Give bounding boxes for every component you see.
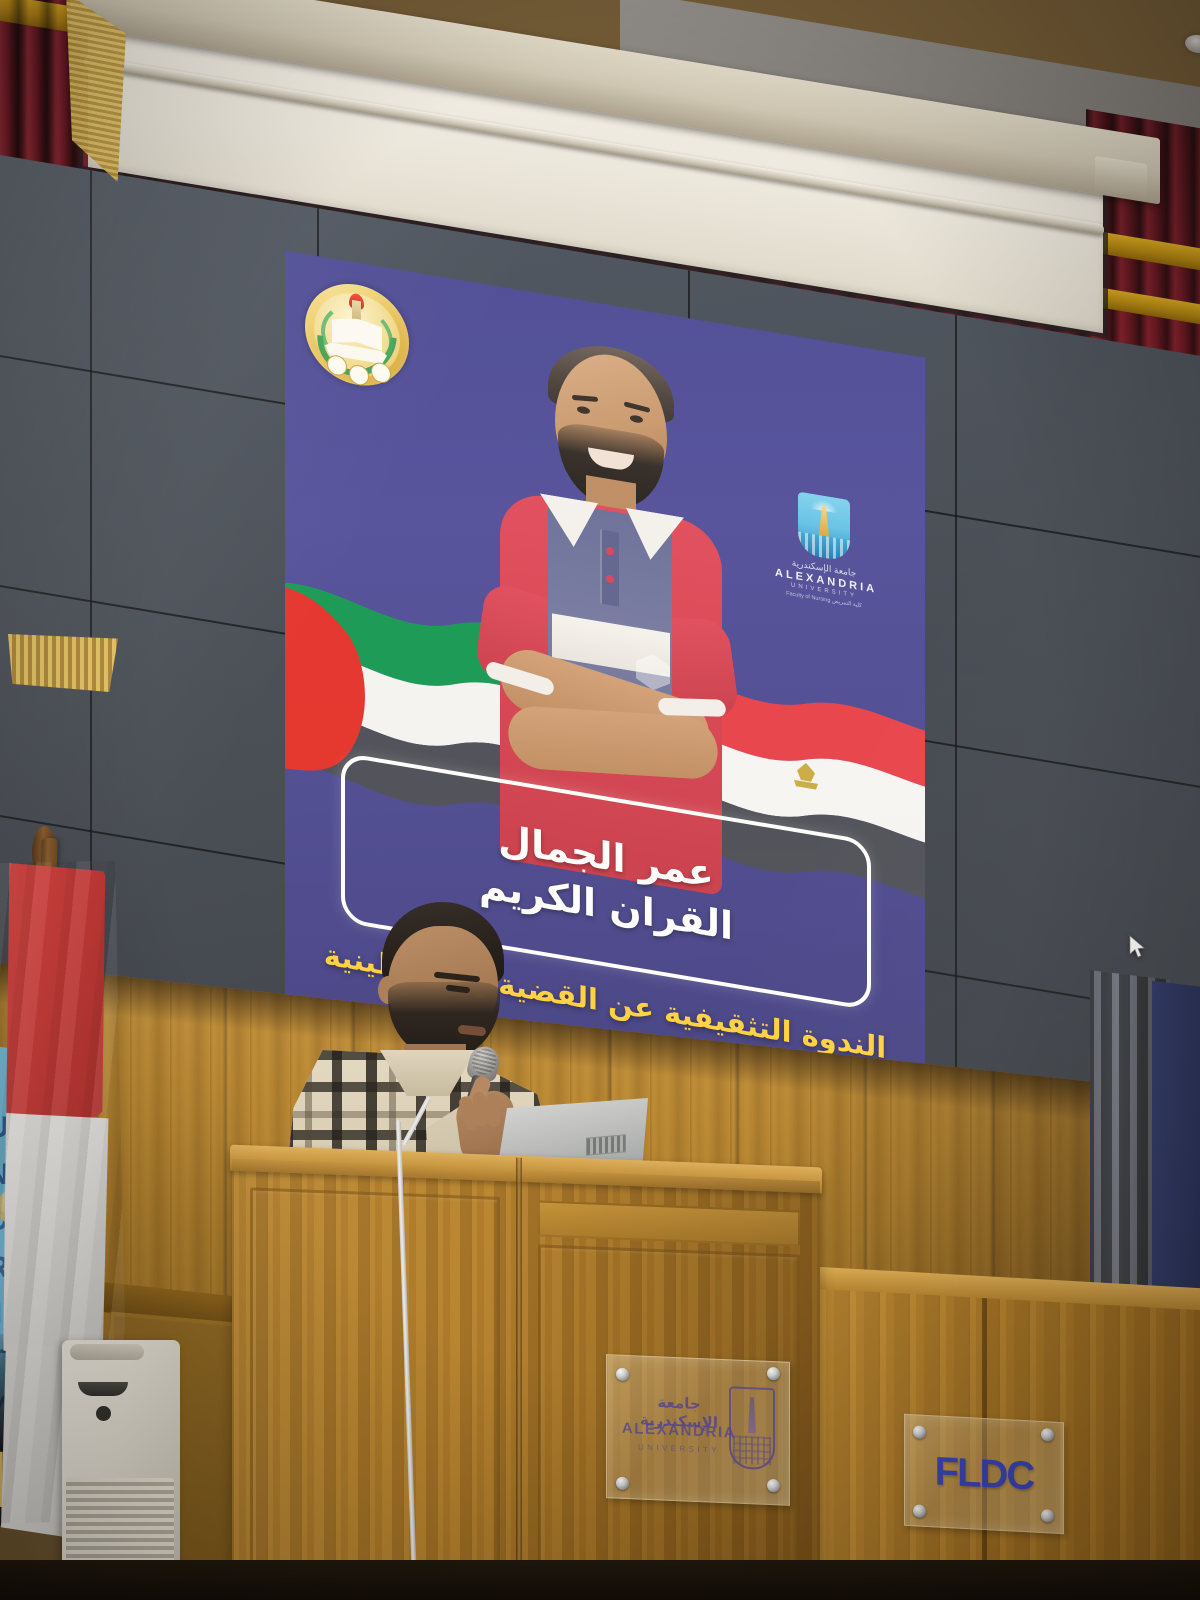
ac-power-button[interactable] — [96, 1406, 111, 1421]
photo-scene: جامعة الإسكندرية ALEXANDRIA UNIVERSITY F… — [0, 0, 1200, 1600]
floor — [0, 1560, 1200, 1600]
alexandria-university-logo: جامعة الإسكندرية ALEXANDRIA UNIVERSITY F… — [775, 488, 873, 636]
laptop-hinge — [586, 1134, 626, 1155]
faculty-crest-icon — [305, 276, 409, 393]
alexandria-university-plaque: جامعة الإسكندرية ALEXANDRIA UNIVERSITY — [606, 1354, 790, 1506]
ceiling-light-icon — [1184, 33, 1200, 55]
fldc-plaque: FLDC — [904, 1414, 1064, 1534]
lighthouse-shield-icon — [798, 492, 850, 563]
lighthouse-shield-icon — [729, 1386, 775, 1470]
fldc-label: FLDC — [905, 1415, 1063, 1533]
plaque-sub: UNIVERSITY — [617, 1442, 741, 1456]
flag-fringe — [8, 634, 118, 692]
mouse-cursor — [1129, 935, 1146, 959]
ac-vent — [78, 1382, 128, 1396]
